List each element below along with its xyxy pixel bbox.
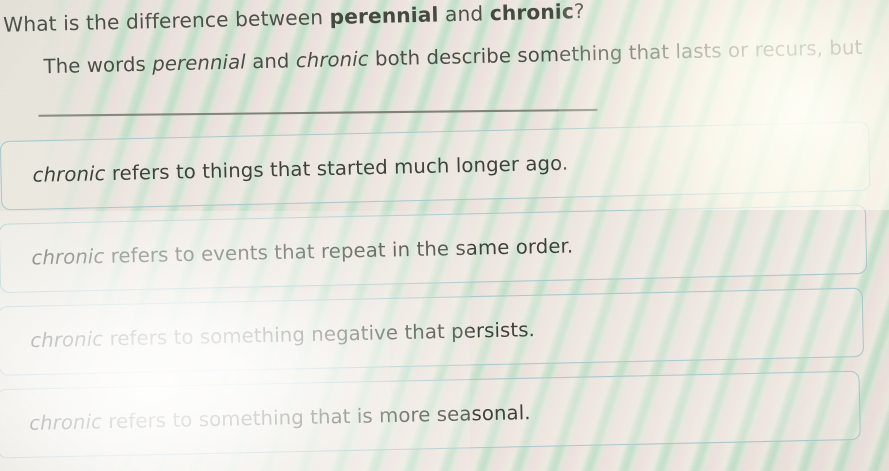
- question-prompt-prefix: What is the difference between: [3, 5, 330, 36]
- answer-option-1-term: chronic: [32, 162, 105, 186]
- answer-option-1[interactable]: chronic refers to things that started mu…: [0, 121, 871, 210]
- answer-option-2-body: refers to events that repeat in the same…: [104, 234, 573, 267]
- horizontal-divider: [38, 109, 597, 117]
- answer-option-2-text: chronic refers to events that repeat in …: [0, 232, 573, 272]
- answer-option-4-term: chronic: [29, 410, 102, 434]
- answer-option-3-term: chronic: [30, 327, 103, 351]
- answer-option-4-text: chronic refers to something that is more…: [0, 399, 531, 437]
- answer-option-1-body: refers to things that started much longe…: [105, 152, 568, 185]
- answer-option-4-body: refers to something that is more seasona…: [102, 401, 531, 433]
- answer-option-3-body: refers to something negative that persis…: [103, 318, 535, 350]
- answer-option-4[interactable]: chronic refers to something that is more…: [0, 371, 861, 459]
- answer-option-3[interactable]: chronic refers to something negative tha…: [0, 288, 864, 376]
- photographed-screen: What is the difference between perennial…: [0, 0, 889, 471]
- question-term-chronic: chronic: [490, 0, 575, 25]
- definition-line: The words perennial and chronic both des…: [43, 32, 889, 82]
- answer-options-list: chronic refers to things that started mu…: [0, 120, 889, 471]
- answer-option-2[interactable]: chronic refers to events that repeat in …: [0, 205, 867, 294]
- question-term-perennial: perennial: [329, 3, 438, 29]
- definition-term-chronic: chronic: [296, 48, 369, 72]
- question-prompt-suffix: ?: [574, 0, 585, 23]
- question-block: What is the difference between perennial…: [0, 0, 889, 84]
- question-prompt-middle: and: [438, 2, 490, 27]
- definition-suffix: both describe something that lasts or re…: [368, 36, 862, 70]
- definition-term-perennial: perennial: [152, 51, 246, 76]
- answer-option-3-text: chronic refers to something negative tha…: [0, 316, 535, 355]
- page-content: What is the difference between perennial…: [0, 0, 889, 471]
- answer-option-1-text: chronic refers to things that started mu…: [1, 149, 568, 189]
- answer-option-2-term: chronic: [31, 245, 104, 269]
- definition-prefix: The words: [43, 53, 152, 78]
- definition-middle: and: [246, 50, 297, 74]
